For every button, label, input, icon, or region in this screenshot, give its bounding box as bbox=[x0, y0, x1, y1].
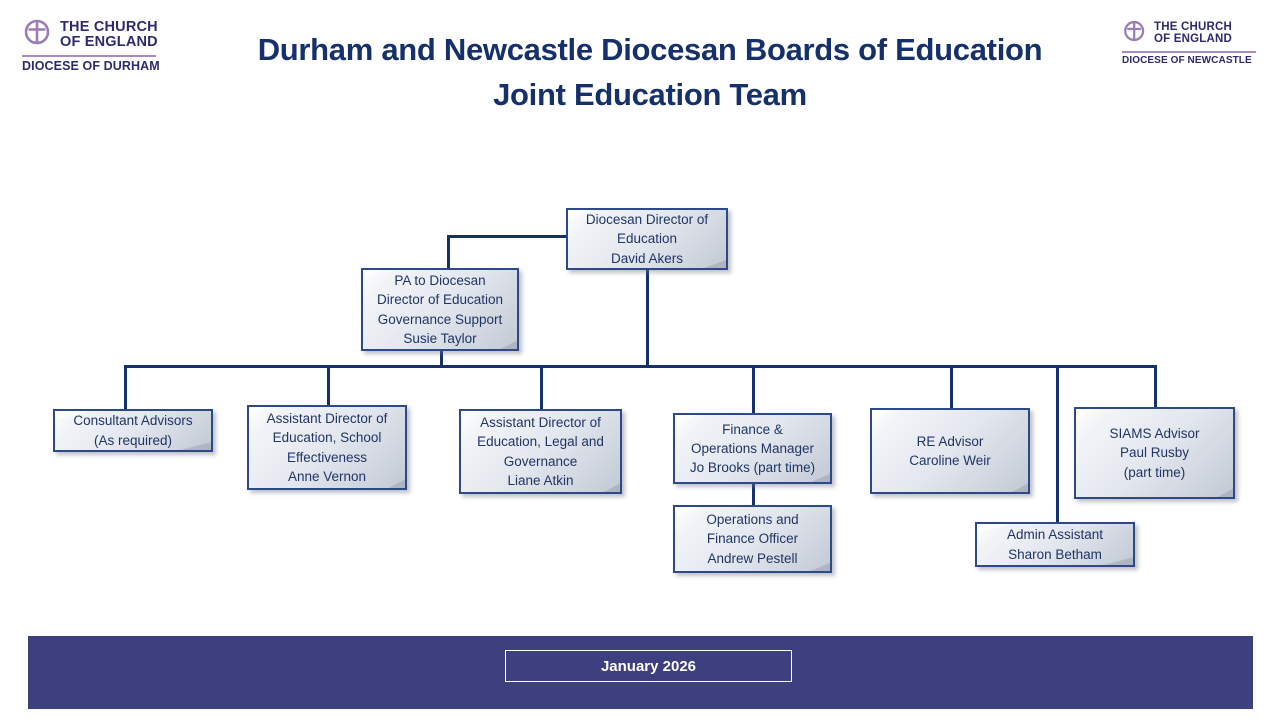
connector-dde-to-pa-vertical bbox=[447, 235, 450, 269]
connector-drop-ade-legal bbox=[540, 365, 543, 409]
connector-drop-siams bbox=[1154, 365, 1157, 407]
church-of-england-emblem-icon bbox=[1122, 18, 1148, 49]
node-assistant-director-school-effectiveness[interactable]: Assistant Director ofEducation, SchoolEf… bbox=[247, 405, 407, 490]
node-assistant-director-legal-and-governance[interactable]: Assistant Director ofEducation, Legal an… bbox=[459, 409, 622, 494]
node-pa-label: PA to DiocesanDirector of EducationGover… bbox=[371, 271, 509, 348]
logo-right-line2: OF ENGLAND bbox=[1154, 34, 1232, 46]
connector-finance-to-ops bbox=[752, 484, 755, 505]
connector-drop-finance bbox=[752, 365, 755, 413]
node-siams-advisor[interactable]: SIAMS AdvisorPaul Rusby(part time) bbox=[1074, 407, 1235, 499]
connector-drop-consultant bbox=[124, 365, 127, 409]
node-re-label: RE AdvisorCaroline Weir bbox=[903, 432, 997, 470]
node-consultant-advisors[interactable]: Consultant Advisors(As required) bbox=[53, 409, 213, 452]
page-title: Durham and Newcastle Diocesan Boards of … bbox=[190, 28, 1110, 118]
church-of-england-emblem-icon bbox=[22, 16, 54, 53]
connector-drop-ade-school bbox=[327, 365, 330, 405]
node-re-advisor[interactable]: RE AdvisorCaroline Weir bbox=[870, 408, 1030, 494]
node-ade-school-label: Assistant Director ofEducation, SchoolEf… bbox=[261, 409, 394, 486]
logo-right-diocese-label: DIOCESE OF NEWCASTLE bbox=[1122, 55, 1256, 66]
slide-canvas: THE CHURCH OF ENGLAND DIOCESE OF DURHAM … bbox=[0, 0, 1280, 720]
logo-left-divider bbox=[22, 55, 156, 57]
connector-dde-to-pa-horizontal bbox=[447, 235, 572, 238]
node-dde-label: Diocesan Director ofEducationDavid Akers bbox=[580, 210, 714, 267]
node-consultant-label: Consultant Advisors(As required) bbox=[67, 411, 198, 449]
connector-main-bus bbox=[124, 365, 1156, 368]
connector-dde-trunk bbox=[646, 270, 649, 367]
logo-right-divider bbox=[1122, 51, 1256, 53]
page-title-line-1: Durham and Newcastle Diocesan Boards of … bbox=[190, 28, 1110, 73]
logo-diocese-of-durham: THE CHURCH OF ENGLAND DIOCESE OF DURHAM bbox=[22, 16, 160, 73]
node-diocesan-director-of-education[interactable]: Diocesan Director ofEducationDavid Akers bbox=[566, 208, 728, 270]
logo-right-line1: THE CHURCH bbox=[1154, 22, 1232, 34]
logo-diocese-of-newcastle: THE CHURCH OF ENGLAND DIOCESE OF NEWCAST… bbox=[1122, 18, 1256, 66]
logo-left-line2: OF ENGLAND bbox=[60, 35, 158, 50]
connector-drop-re bbox=[950, 365, 953, 408]
logo-left-diocese-label: DIOCESE OF DURHAM bbox=[22, 59, 160, 73]
node-siams-label: SIAMS AdvisorPaul Rusby(part time) bbox=[1103, 424, 1205, 481]
node-ade-legal-label: Assistant Director ofEducation, Legal an… bbox=[471, 413, 610, 490]
node-finance-and-operations-manager[interactable]: Finance &Operations ManagerJo Brooks (pa… bbox=[673, 413, 832, 484]
node-admin-assistant[interactable]: Admin AssistantSharon Betham bbox=[975, 522, 1135, 567]
page-title-line-2: Joint Education Team bbox=[190, 73, 1110, 118]
footer-date-chip: January 2026 bbox=[505, 650, 792, 682]
node-admin-label: Admin AssistantSharon Betham bbox=[1001, 525, 1109, 563]
footer-date-label: January 2026 bbox=[601, 658, 696, 675]
node-finance-label: Finance &Operations ManagerJo Brooks (pa… bbox=[684, 420, 821, 477]
node-operations-and-finance-officer[interactable]: Operations andFinance OfficerAndrew Pest… bbox=[673, 505, 832, 573]
node-pa-to-diocesan-director[interactable]: PA to DiocesanDirector of EducationGover… bbox=[361, 268, 519, 351]
node-ops-label: Operations andFinance OfficerAndrew Pest… bbox=[700, 510, 804, 567]
connector-drop-admin bbox=[1056, 365, 1059, 522]
logo-left-line1: THE CHURCH bbox=[60, 20, 158, 35]
